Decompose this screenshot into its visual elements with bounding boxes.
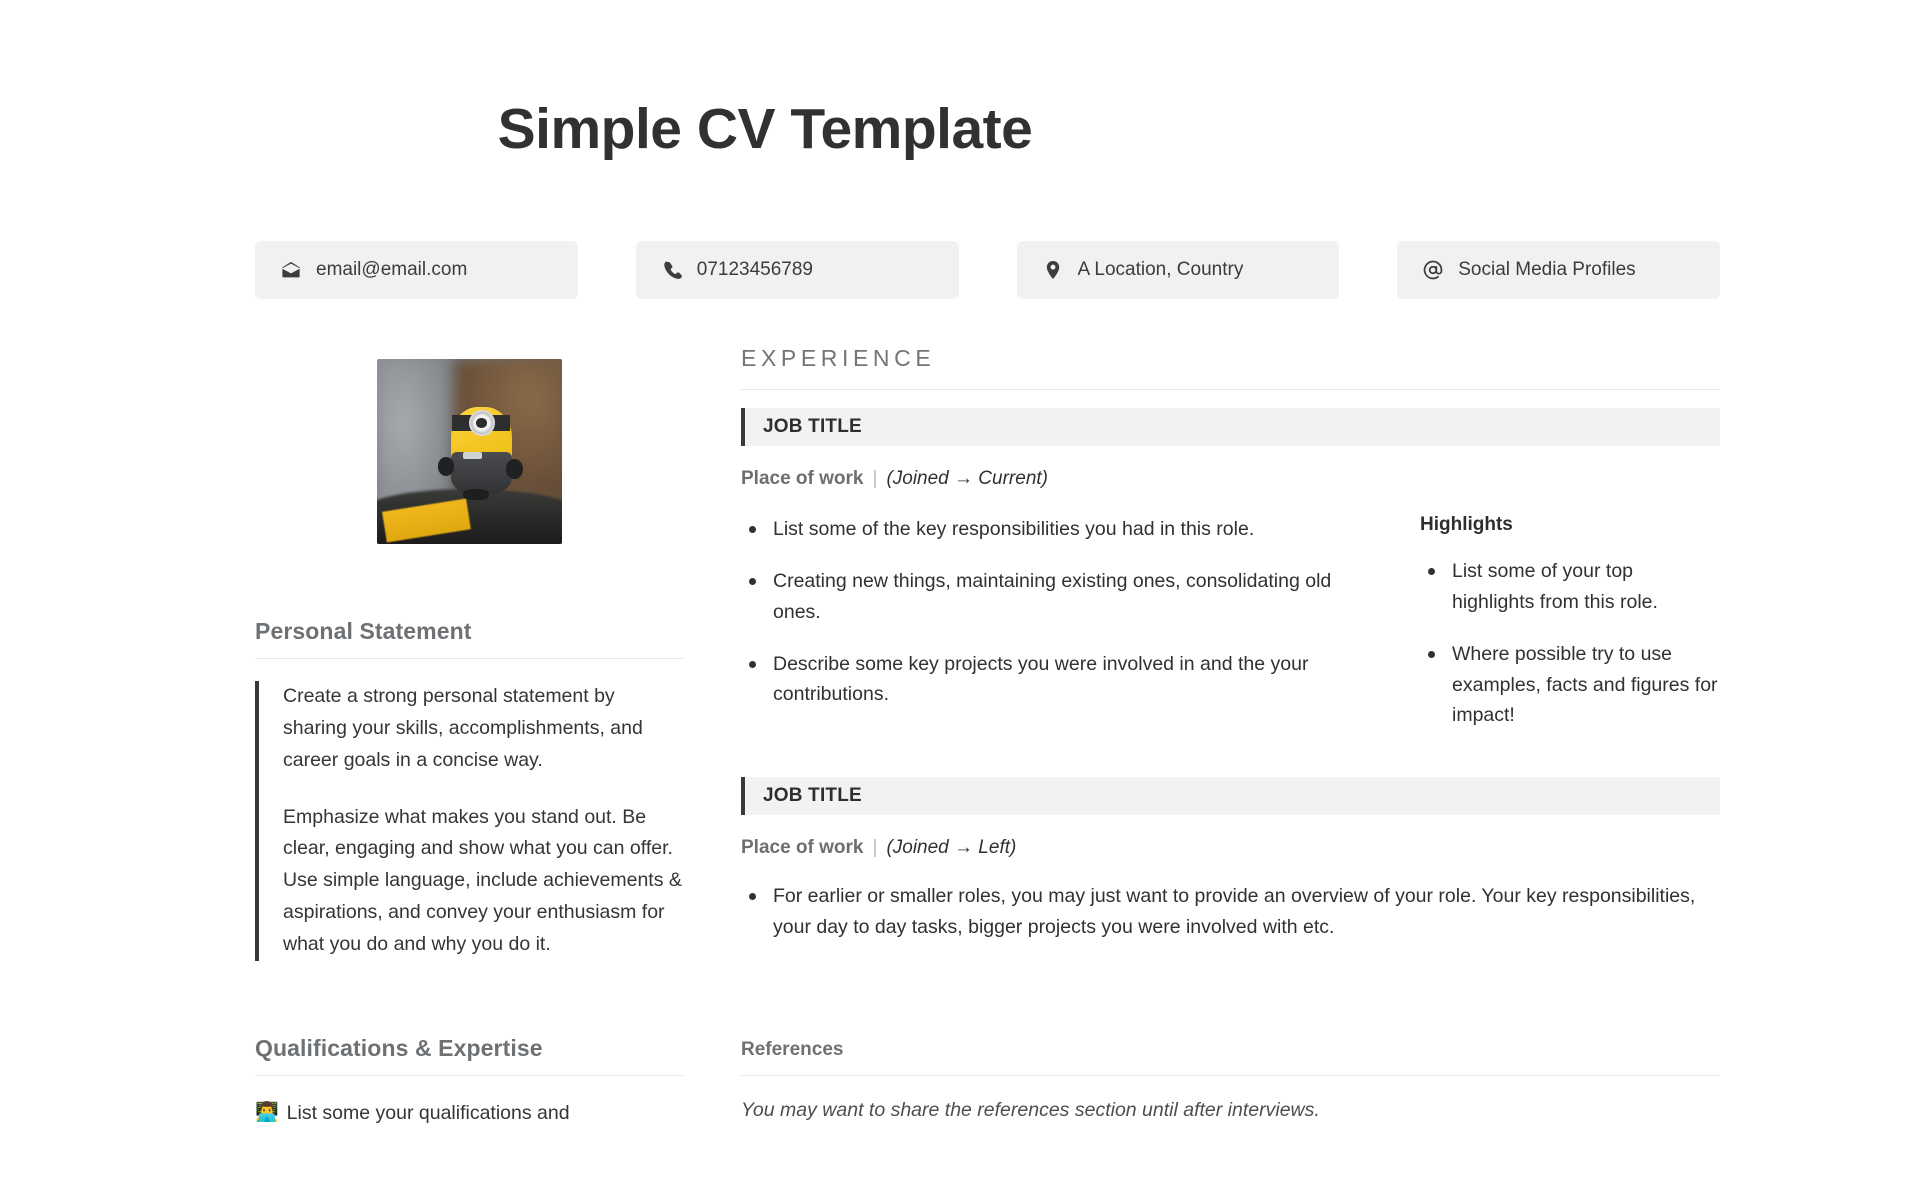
contact-social-text: Social Media Profiles bbox=[1458, 259, 1635, 281]
job-entry: JOB TITLE Place of work | (Joined → Curr… bbox=[741, 408, 1720, 731]
job-meta: Place of work | (Joined → Left) bbox=[741, 837, 1720, 859]
contact-chip-location[interactable]: A Location, Country bbox=[1017, 241, 1340, 299]
job-meta: Place of work | (Joined → Current) bbox=[741, 468, 1720, 490]
references-note: You may want to share the references sec… bbox=[741, 1099, 1720, 1122]
contact-email-text: email@email.com bbox=[316, 259, 467, 281]
list-item: For earlier or smaller roles, you may ju… bbox=[741, 881, 1720, 943]
highlights-list: List some of your top highlights from th… bbox=[1420, 556, 1720, 731]
phone-icon bbox=[661, 259, 683, 281]
list-item: List some of your top highlights from th… bbox=[1420, 556, 1720, 618]
personal-statement-quote: Create a strong personal statement by sh… bbox=[255, 681, 683, 960]
job-title: JOB TITLE bbox=[763, 416, 862, 438]
job-body: List some of the key responsibilities yo… bbox=[741, 514, 1720, 731]
profile-photo-wrap bbox=[255, 359, 683, 544]
personal-statement-heading: Personal Statement bbox=[255, 618, 683, 645]
experience-column: EXPERIENCE JOB TITLE Place of work | (Jo… bbox=[741, 345, 1720, 1129]
list-item: Describe some key projects you were invo… bbox=[741, 649, 1360, 711]
minion-figurine-photo bbox=[377, 359, 562, 544]
highlights-column: Highlights List some of your top highlig… bbox=[1420, 514, 1720, 731]
personal-statement-paragraph-1: Create a strong personal statement by sh… bbox=[283, 681, 683, 776]
contact-location-text: A Location, Country bbox=[1078, 259, 1244, 281]
responsibilities-list: For earlier or smaller roles, you may ju… bbox=[741, 881, 1720, 943]
responsibilities-list: List some of the key responsibilities yo… bbox=[741, 514, 1360, 710]
job-title: JOB TITLE bbox=[763, 785, 862, 807]
list-item: Where possible try to use examples, fact… bbox=[1420, 639, 1720, 731]
personal-statement-divider bbox=[255, 658, 683, 659]
job-dates: (Joined → Current) bbox=[886, 468, 1048, 490]
contact-chip-phone[interactable]: 07123456789 bbox=[636, 241, 959, 299]
personal-statement-paragraph-2: Emphasize what makes you stand out. Be c… bbox=[283, 802, 683, 961]
job-meta-separator: | bbox=[873, 837, 878, 859]
contact-bar: email@email.com 07123456789 A Location, … bbox=[0, 241, 1920, 299]
job-place: Place of work bbox=[741, 468, 864, 490]
references-heading: References bbox=[741, 1039, 1720, 1061]
job-meta-separator: | bbox=[873, 468, 878, 490]
job-entry: JOB TITLE Place of work | (Joined → Left… bbox=[741, 777, 1720, 943]
experience-heading: EXPERIENCE bbox=[741, 345, 1720, 372]
technologist-emoji-icon: 👨‍💻 bbox=[255, 1098, 279, 1130]
contact-chip-social[interactable]: Social Media Profiles bbox=[1397, 241, 1720, 299]
cv-document: Simple CV Template email@email.com 07123… bbox=[0, 96, 1920, 1199]
qualifications-divider bbox=[255, 1075, 683, 1076]
list-item: List some of the key responsibilities yo… bbox=[741, 514, 1360, 545]
qualifications-heading: Qualifications & Expertise bbox=[255, 1035, 683, 1062]
envelope-icon bbox=[280, 259, 302, 281]
map-pin-icon bbox=[1042, 259, 1064, 281]
job-title-band: JOB TITLE bbox=[741, 408, 1720, 446]
page-title: Simple CV Template bbox=[0, 96, 1920, 163]
job-place: Place of work bbox=[741, 837, 864, 859]
content-area: Personal Statement Create a strong perso… bbox=[0, 345, 1920, 1129]
qualifications-text: List some your qualifications and bbox=[287, 1098, 570, 1130]
highlights-title: Highlights bbox=[1420, 514, 1720, 536]
at-sign-icon bbox=[1422, 259, 1444, 281]
list-item: Creating new things, maintaining existin… bbox=[741, 566, 1360, 628]
job-title-band: JOB TITLE bbox=[741, 777, 1720, 815]
references-divider bbox=[741, 1075, 1720, 1076]
contact-chip-email[interactable]: email@email.com bbox=[255, 241, 578, 299]
responsibilities-column: List some of the key responsibilities yo… bbox=[741, 514, 1360, 731]
sidebar-column: Personal Statement Create a strong perso… bbox=[255, 345, 683, 1129]
job-dates: (Joined → Left) bbox=[886, 837, 1016, 859]
contact-phone-text: 07123456789 bbox=[697, 259, 813, 281]
experience-divider bbox=[741, 389, 1720, 390]
qualifications-first-line: 👨‍💻 List some your qualifications and bbox=[255, 1098, 683, 1130]
